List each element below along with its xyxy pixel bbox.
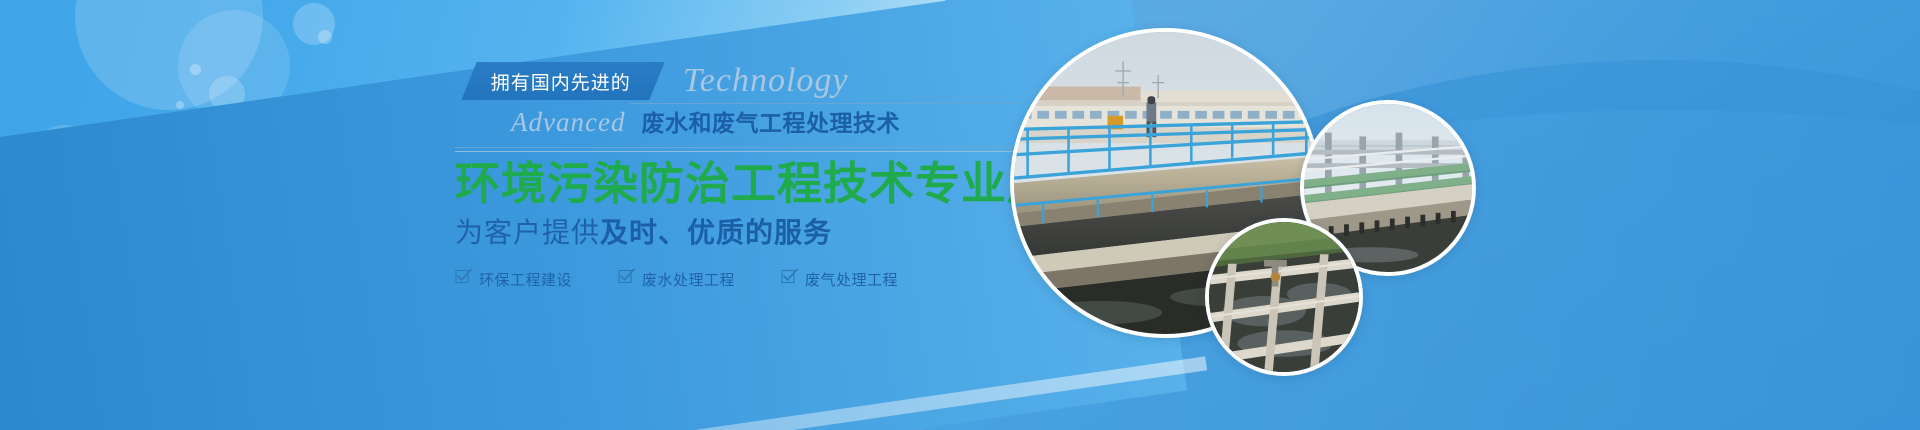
subline-bold: 及时、优质的服务	[600, 217, 832, 248]
checklist-label: 环保工程建设	[479, 269, 572, 290]
technology-word: Technology	[683, 62, 849, 100]
tagline-badge: 拥有国内先进的	[461, 62, 664, 100]
subtitle-row: Advanced 废水和废气工程处理技术	[455, 104, 1015, 148]
bokeh-circle	[318, 30, 332, 44]
checklist-label: 废气处理工程	[805, 269, 898, 290]
checklist-item[interactable]: 废水处理工程	[618, 268, 735, 290]
photo-aeration-basin	[1205, 218, 1363, 376]
advanced-word: Advanced	[511, 107, 625, 138]
subtitle-cn: 废水和废气工程处理技术	[641, 104, 900, 138]
feature-checklist: 环保工程建设 废水处理工程 废气处理工程	[455, 268, 898, 290]
divider-bottom	[455, 147, 1017, 148]
headline: 环境污染防治工程技术专业顾问	[455, 157, 1015, 211]
subline-normal: 为客户提供	[455, 217, 600, 248]
bokeh-circle	[293, 3, 335, 45]
check-icon	[455, 268, 472, 290]
tagline-row: 拥有国内先进的 Technology	[455, 62, 1015, 104]
check-icon	[781, 268, 798, 290]
bokeh-circle	[75, 0, 263, 110]
bokeh-circle	[176, 101, 184, 109]
tagline-label: 拥有国内先进的	[491, 68, 631, 95]
bokeh-circle	[190, 64, 201, 75]
promo-banner: 拥有国内先进的 Technology Advanced 废水和废气工程处理技术 …	[0, 0, 1920, 430]
subline: 为客户提供及时、优质的服务	[455, 214, 1015, 252]
divider-top	[630, 103, 1017, 104]
checklist-label: 废水处理工程	[642, 269, 735, 290]
checklist-item[interactable]: 环保工程建设	[455, 268, 572, 290]
divider-bottom-thin	[455, 151, 1017, 152]
checklist-item[interactable]: 废气处理工程	[781, 268, 898, 290]
banner-copy: 拥有国内先进的 Technology Advanced 废水和废气工程处理技术 …	[455, 62, 1015, 252]
check-icon	[618, 268, 635, 290]
